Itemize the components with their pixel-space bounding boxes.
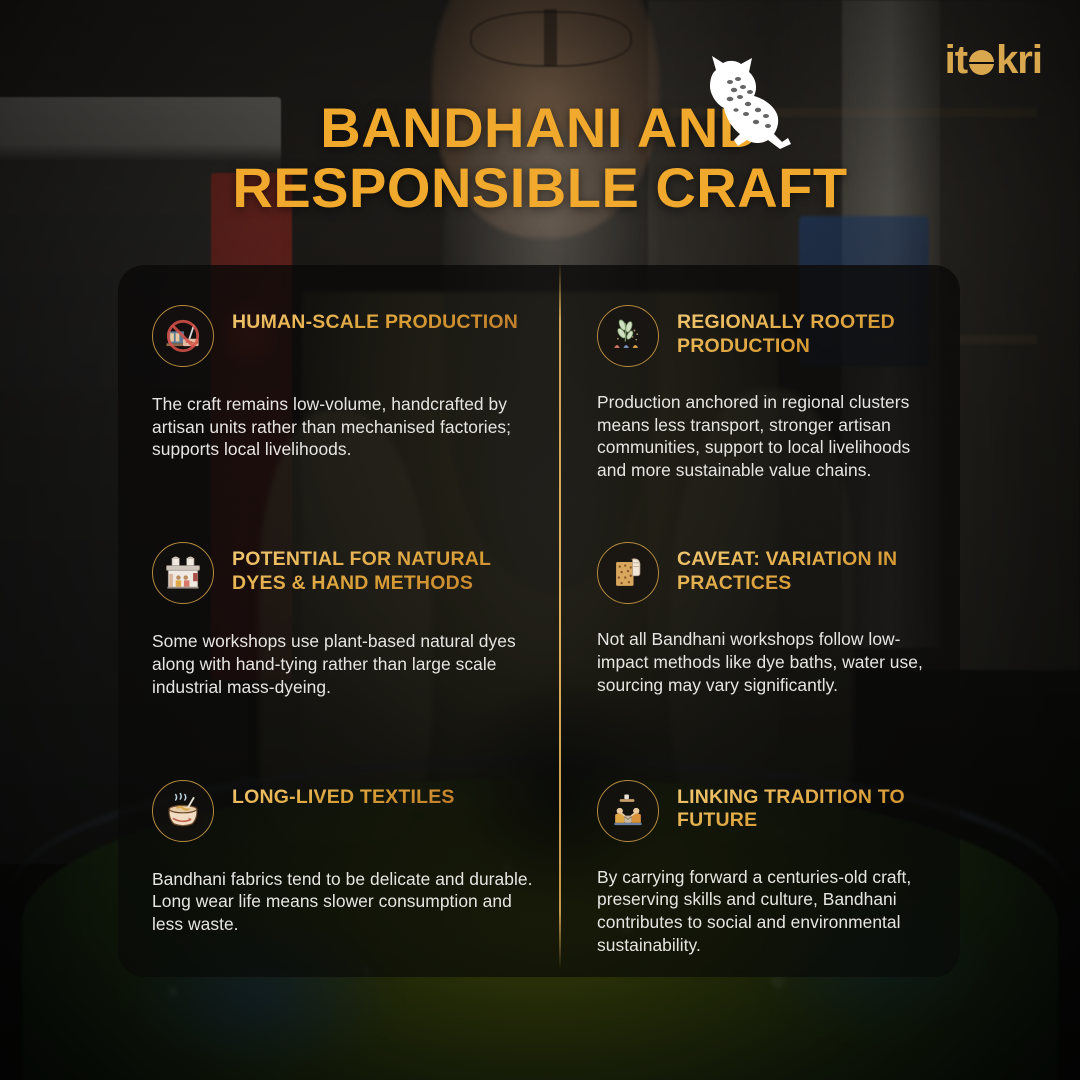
card-regionally-rooted-production: REGIONALLY ROOTED PRODUCTION Production … xyxy=(559,265,960,502)
card-body: Bandhani fabrics tend to be delicate and… xyxy=(152,868,533,936)
card-natural-dyes-hand-methods: POTENTIAL FOR NATURAL DYES & HAND METHOD… xyxy=(118,502,559,739)
card-header: REGIONALLY ROOTED PRODUCTION xyxy=(597,303,938,365)
logo-basket-icon xyxy=(969,50,994,75)
card-title: LONG-LIVED TEXTILES xyxy=(232,778,455,810)
card-title: REGIONALLY ROOTED PRODUCTION xyxy=(677,303,938,359)
card-human-scale-production: HUMAN-SCALE PRODUCTION The craft remains… xyxy=(118,265,559,502)
cards-grid: HUMAN-SCALE PRODUCTION The craft remains… xyxy=(118,265,960,977)
card-title: HUMAN-SCALE PRODUCTION xyxy=(232,303,518,335)
card-header: HUMAN-SCALE PRODUCTION xyxy=(152,303,533,365)
card-header: LONG-LIVED TEXTILES xyxy=(152,778,533,840)
no-factory-icon xyxy=(152,305,214,367)
cat-illustration-icon xyxy=(690,52,800,152)
card-header: POTENTIAL FOR NATURAL DYES & HAND METHOD… xyxy=(152,540,533,602)
card-header: LINKING TRADITION TO FUTURE xyxy=(597,778,938,840)
card-long-lived-textiles: LONG-LIVED TEXTILES Bandhani fabrics ten… xyxy=(118,740,559,977)
brand-logo[interactable]: it kri xyxy=(945,40,1042,80)
hand-holding-fabric-icon xyxy=(597,542,659,604)
card-caveat-variation-in-practices: CAVEAT: VARIATION IN PRACTICES Not all B… xyxy=(559,502,960,739)
card-body: The craft remains low-volume, handcrafte… xyxy=(152,393,533,461)
card-title: LINKING TRADITION TO FUTURE xyxy=(677,778,938,834)
logo-text-left: it xyxy=(945,40,967,80)
page-title-line2: RESPONSIBLE CRAFT xyxy=(0,158,1080,218)
card-body: Some workshops use plant-based natural d… xyxy=(152,630,533,698)
card-title: POTENTIAL FOR NATURAL DYES & HAND METHOD… xyxy=(232,540,533,596)
card-body: Not all Bandhani workshops follow low-im… xyxy=(597,628,938,696)
steaming-dye-pot-icon xyxy=(152,780,214,842)
card-title: CAVEAT: VARIATION IN PRACTICES xyxy=(677,540,938,596)
logo-text-right: kri xyxy=(996,40,1042,80)
page-title: BANDHANI AND RESPONSIBLE CRAFT xyxy=(0,98,1080,219)
card-header: CAVEAT: VARIATION IN PRACTICES xyxy=(597,540,938,602)
two-artisans-icon xyxy=(597,780,659,842)
workshop-building-icon xyxy=(152,542,214,604)
card-linking-tradition-to-future: LINKING TRADITION TO FUTURE By carrying … xyxy=(559,740,960,977)
content-panel: HUMAN-SCALE PRODUCTION The craft remains… xyxy=(118,265,960,977)
card-body: Production anchored in regional clusters… xyxy=(597,391,938,482)
card-body: By carrying forward a centuries-old craf… xyxy=(597,866,938,957)
leaves-dye-powders-icon xyxy=(597,305,659,367)
